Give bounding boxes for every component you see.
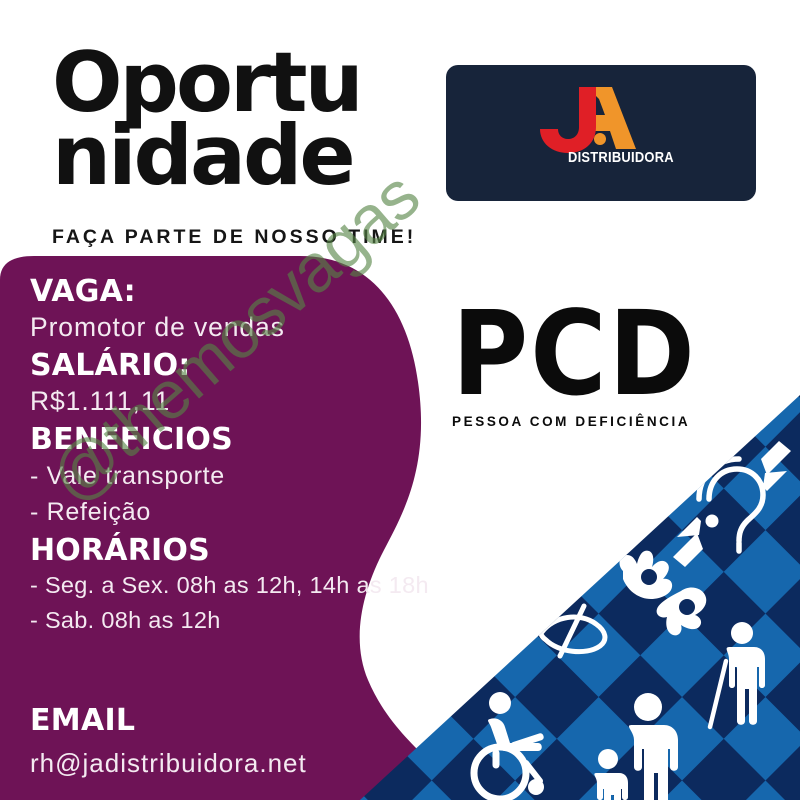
email-value[interactable]: rh@jadistribuidora.net [30,748,307,779]
email-label: EMAIL [30,703,135,738]
subheadline: FAÇA PARTE DE NOSSO TIME! [52,226,416,249]
company-logo-card: DISTRIBUIDORA [446,65,756,201]
headline-line-2: nidade [52,119,452,192]
list-item: - Seg. a Sex. 08h as 12h, 14h as 18h [30,572,530,599]
vaga-label: VAGA: [30,276,530,308]
job-details: VAGA: Promotor de vendas SALÁRIO: R$1.11… [30,276,530,641]
list-item: - Sab. 08h as 12h [30,607,530,634]
list-item: - Refeição [30,498,530,527]
salario-label: SALÁRIO: [30,350,530,382]
salario-value: R$1.111,11 [30,387,530,417]
vaga-value: Promotor de vendas [30,313,530,343]
beneficios-label: BENEFICIOS [30,424,530,456]
page-title: Oportu nidade [52,46,452,192]
logo-subtitle: DISTRIBUIDORA [568,149,674,166]
horarios-label: HORÁRIOS [30,535,530,567]
list-item: - Vale transporte [30,462,530,491]
ja-logo-mark [524,83,674,159]
job-posting-poster: Oportu nidade FAÇA PARTE DE NOSSO TIME! … [0,0,800,800]
